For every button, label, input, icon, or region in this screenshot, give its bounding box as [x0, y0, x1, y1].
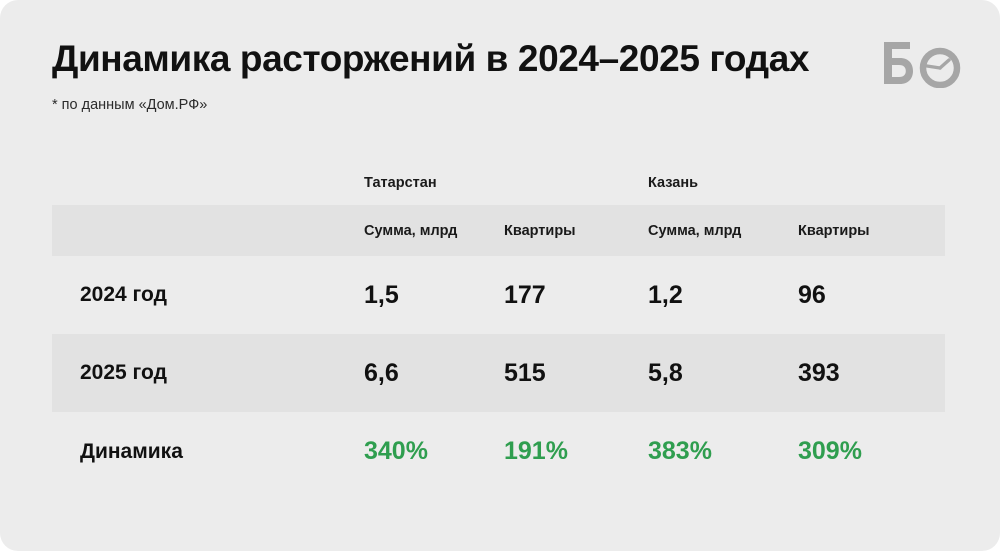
header: Динамика расторжений в 2024–2025 годах *… [52, 36, 948, 115]
cell-2025-tatarstan-flats: 515 [504, 359, 648, 388]
table-column-header-row: Сумма, млрд Квартиры Сумма, млрд Квартир… [52, 205, 945, 256]
cell-2025-kazan-flats: 393 [798, 359, 945, 388]
cell-2024-tatarstan-sum: 1,5 [364, 281, 504, 310]
cell-2024-kazan-sum: 1,2 [648, 281, 798, 310]
group-header-tatarstan: Татарстан [364, 175, 504, 191]
cell-2025-kazan-sum: 5,8 [648, 359, 798, 388]
table-group-header-row: Татарстан Казань [52, 160, 945, 205]
source-note: * по данным «Дом.РФ» [52, 82, 948, 115]
logo-letter-be [884, 42, 913, 84]
cell-2024-tatarstan-flats: 177 [504, 281, 648, 310]
cell-dynamics-tatarstan-sum: 340% [364, 437, 504, 466]
page-title: Динамика расторжений в 2024–2025 годах [52, 36, 948, 82]
column-header-kazan-flats: Квартиры [798, 223, 945, 239]
column-header-tatarstan-sum: Сумма, млрд [364, 223, 504, 239]
cell-dynamics-tatarstan-flats: 191% [504, 437, 648, 466]
cell-2025-tatarstan-sum: 6,6 [364, 359, 504, 388]
group-header-kazan: Казань [648, 175, 798, 191]
cell-dynamics-kazan-flats: 309% [798, 437, 945, 466]
table-row: 2025 год 6,6 515 5,8 393 [52, 334, 945, 412]
cell-dynamics-kazan-sum: 383% [648, 437, 798, 466]
bo-logo [880, 38, 962, 88]
table-row: Динамика 340% 191% 383% 309% [52, 412, 945, 491]
cell-2024-kazan-flats: 96 [798, 281, 945, 310]
row-label-2024: 2024 год [52, 283, 364, 307]
clock-hand-hour [940, 60, 949, 68]
table-row: 2024 год 1,5 177 1,2 96 [52, 256, 945, 334]
clock-hand-minute [927, 66, 940, 68]
column-header-tatarstan-flats: Квартиры [504, 223, 648, 239]
column-header-kazan-sum: Сумма, млрд [648, 223, 798, 239]
row-label-2025: 2025 год [52, 361, 364, 385]
infographic-card: Динамика расторжений в 2024–2025 годах *… [0, 0, 1000, 551]
stats-table: Татарстан Казань Сумма, млрд Квартиры Су… [52, 160, 945, 491]
row-label-dynamics: Динамика [52, 440, 364, 464]
